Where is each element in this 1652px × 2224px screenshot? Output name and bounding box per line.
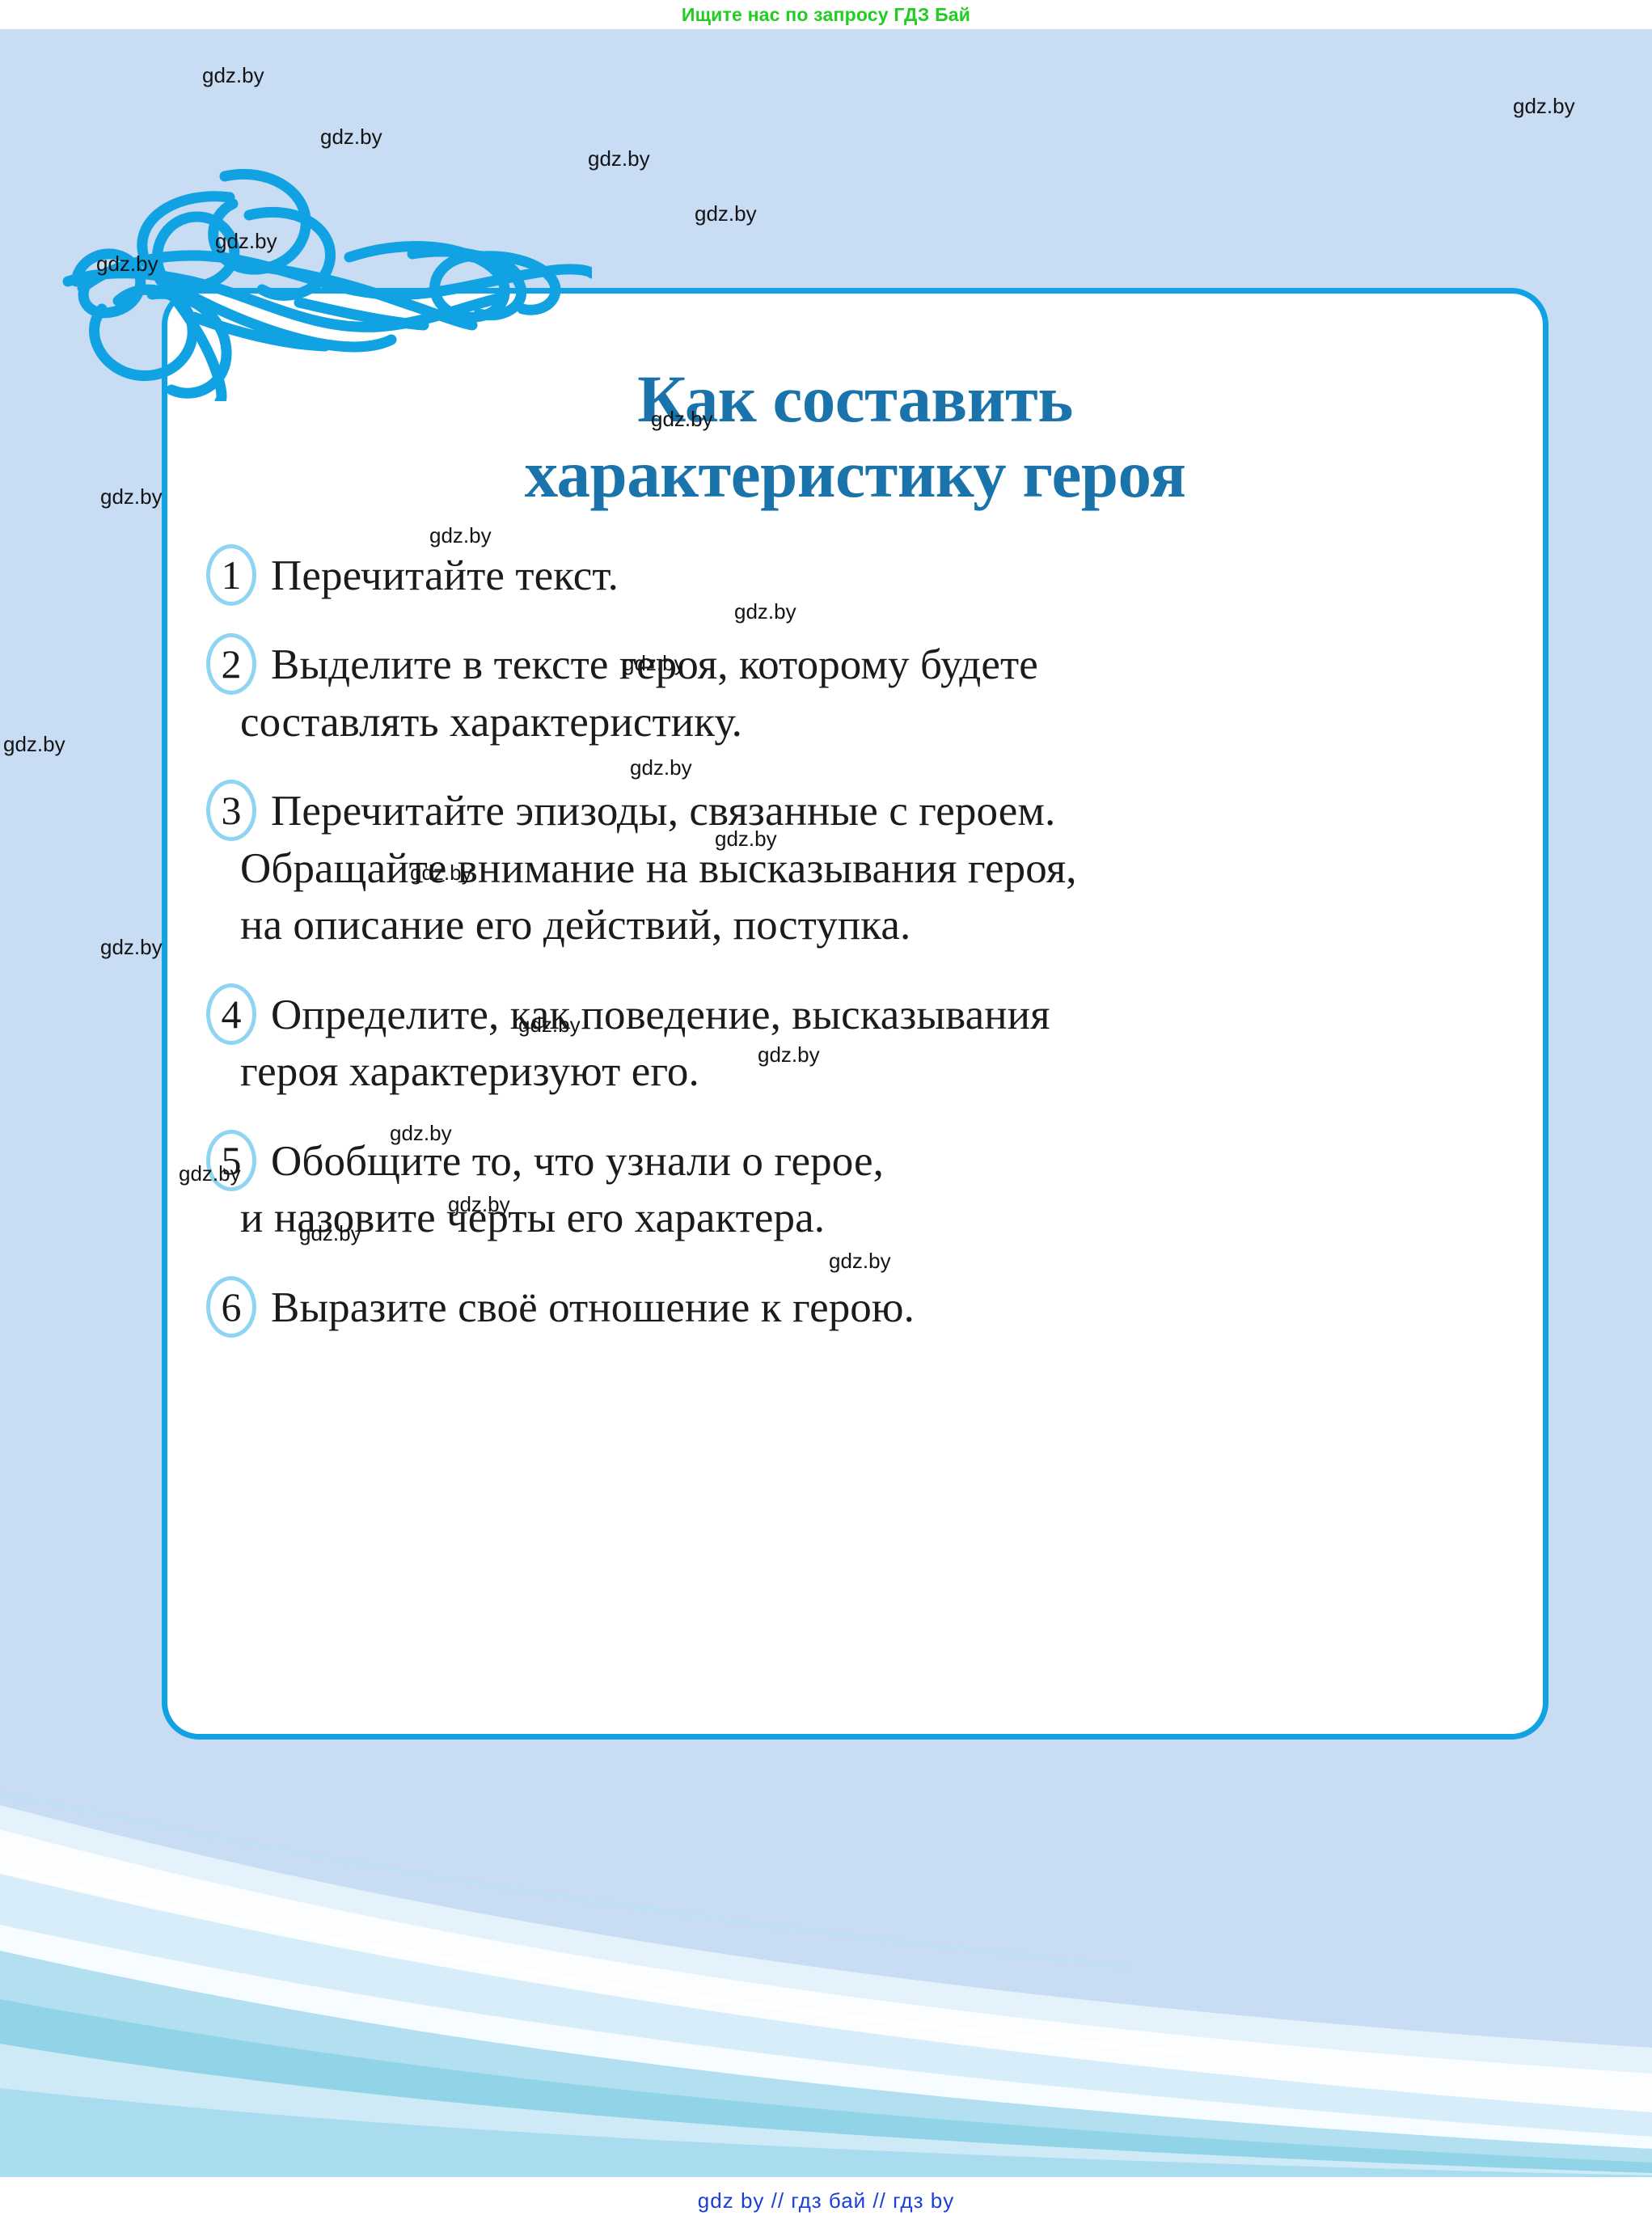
step-number-badge-2: 2 [206, 633, 256, 695]
watermark-17: gdz.by [100, 937, 163, 958]
instruction-card: Как составить характеристику героя 1 Пер… [162, 288, 1548, 1740]
step-text-5-line-2: и назовите черты его характера. [240, 1190, 1494, 1246]
step-number-badge-4: 4 [206, 983, 256, 1045]
step-text-4-line-1: Определите, как поведение, высказывания [271, 991, 1050, 1038]
watermark-1: gdz.by [202, 65, 264, 86]
step-text-1-line-1: Перечитайте текст. [271, 552, 619, 599]
step-text-5: Обобщите то, что узнали о герое, и назов… [271, 1133, 1494, 1247]
page-canvas: Как составить характеристику героя 1 Пер… [0, 29, 1652, 2177]
step-text-2: Выделите в тексте героя, которому будете… [271, 636, 1494, 750]
top-promo-banner: Ищите нас по запросу ГДЗ Бай [0, 0, 1652, 29]
watermark-9: gdz.by [100, 486, 163, 507]
watermark-2: gdz.by [1513, 95, 1575, 116]
step-item-3: 3 Перечитайте эпизоды, связанные с герое… [184, 783, 1494, 953]
step-text-1: Перечитайте текст. [271, 548, 1494, 604]
step-text-2-line-2: составлять характеристику. [240, 694, 1494, 750]
watermark-4: gdz.by [588, 148, 650, 169]
page-title: Как составить характеристику героя [167, 294, 1543, 512]
page-title-line-1: Как составить [637, 362, 1072, 436]
step-item-2: 2 Выделите в тексте героя, которому буде… [184, 636, 1494, 750]
top-promo-banner-text: Ищите нас по запросу ГДЗ Бай [682, 0, 970, 29]
footer-text: gdz by // гдз бай // гдз by [698, 2177, 954, 2224]
step-text-3-line-1: Перечитайте эпизоды, связанные с героем. [271, 788, 1055, 835]
step-number-badge-6: 6 [206, 1276, 256, 1338]
watermark-13: gdz.by [3, 734, 65, 755]
step-text-3-line-3: на описание его действий, поступка. [240, 897, 1494, 953]
step-text-6-line-1: Выразите своё отношение к герою. [271, 1284, 915, 1331]
steps-list: 1 Перечитайте текст. 2 Выделите в тексте… [167, 512, 1543, 1336]
step-item-6: 6 Выразите своё отношение к герою. [184, 1279, 1494, 1336]
watermark-7: gdz.by [96, 253, 158, 274]
page-title-line-2: характеристику героя [525, 437, 1186, 511]
step-text-3: Перечитайте эпизоды, связанные с героем.… [271, 783, 1494, 953]
step-text-3-line-2: Обращайте внимание на высказывания героя… [240, 840, 1494, 897]
watermark-6: gdz.by [215, 230, 277, 252]
step-text-4: Определите, как поведение, высказывания … [271, 987, 1494, 1101]
step-text-4-line-2: героя характеризуют его. [240, 1043, 1494, 1100]
step-text-5-line-1: Обобщите то, что узнали о герое, [271, 1138, 884, 1185]
watermark-5: gdz.by [695, 203, 757, 224]
step-text-2-line-1: Выделите в тексте героя, которому будете [271, 641, 1038, 688]
footer-bar: gdz by // гдз бай // гдз by [0, 2177, 1652, 2224]
watermark-3: gdz.by [320, 126, 382, 147]
step-text-6: Выразите своё отношение к герою. [271, 1279, 1494, 1336]
step-item-5: 5 Обобщите то, что узнали о герое, и наз… [184, 1133, 1494, 1247]
step-item-1: 1 Перечитайте текст. [184, 548, 1494, 604]
step-item-4: 4 Определите, как поведение, высказывани… [184, 987, 1494, 1101]
wave-decoration [0, 1708, 1652, 2177]
step-number-badge-5: 5 [206, 1130, 256, 1191]
step-number-badge-3: 3 [206, 780, 256, 841]
step-number-badge-1: 1 [206, 544, 256, 606]
